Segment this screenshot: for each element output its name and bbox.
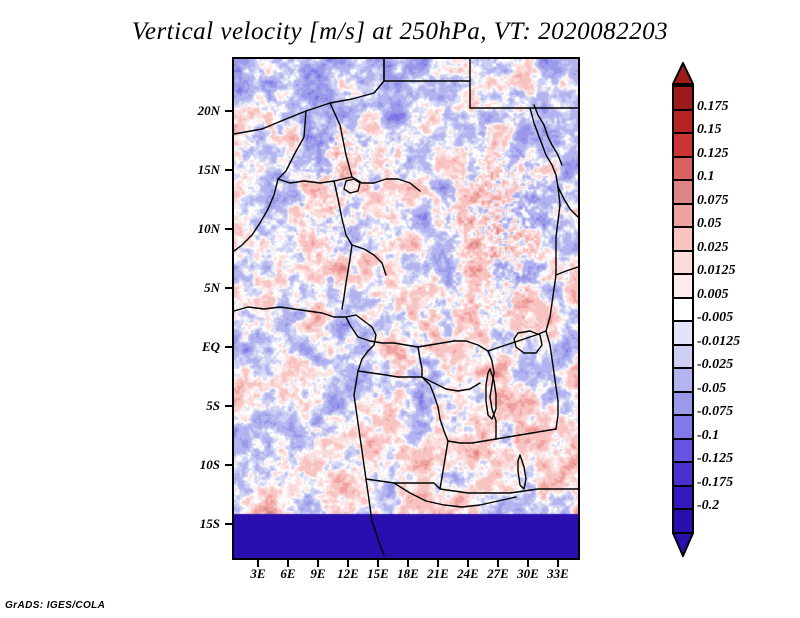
colorbar-cell	[672, 156, 694, 182]
y-axis-label-15n: 15N	[160, 162, 220, 178]
colorbar-cell	[672, 297, 694, 323]
grads-attribution: GrADS: IGES/COLA	[5, 600, 105, 611]
y-tick	[225, 169, 232, 171]
colorbar-label: 0.0125	[697, 263, 736, 279]
colorbar-arrow-top	[672, 62, 694, 85]
colorbar: 0.1750.150.1250.10.0750.050.0250.01250.0…	[672, 62, 694, 562]
colorbar-label: 0.175	[697, 99, 729, 115]
y-axis-label-10n: 10N	[160, 221, 220, 237]
colorbar-label: -0.1	[697, 428, 719, 444]
country-borders-overlay	[234, 59, 578, 558]
y-tick	[225, 464, 232, 466]
colorbar-label: 0.1	[697, 169, 715, 185]
colorbar-label: 0.025	[697, 240, 729, 256]
colorbar-cell	[672, 391, 694, 417]
y-axis-label-5s: 5S	[160, 398, 220, 414]
colorbar-cell	[672, 414, 694, 440]
y-tick	[225, 228, 232, 230]
colorbar-cell	[672, 179, 694, 205]
y-tick	[225, 523, 232, 525]
colorbar-cell	[672, 485, 694, 511]
colorbar-label: -0.0125	[697, 334, 740, 350]
colorbar-cell	[672, 109, 694, 135]
colorbar-cell	[672, 203, 694, 229]
colorbar-cell	[672, 273, 694, 299]
colorbar-label: -0.075	[697, 404, 733, 420]
colorbar-cell	[672, 250, 694, 276]
colorbar-cell	[672, 367, 694, 393]
colorbar-label: -0.05	[697, 381, 726, 397]
colorbar-cell	[672, 132, 694, 158]
colorbar-label: -0.125	[697, 451, 733, 467]
y-tick	[225, 346, 232, 348]
colorbar-label: 0.075	[697, 193, 729, 209]
colorbar-label: -0.2	[697, 498, 719, 514]
map-plot-area	[232, 57, 580, 560]
colorbar-arrow-bottom	[672, 532, 694, 557]
colorbar-cell	[672, 85, 694, 111]
colorbar-label: -0.175	[697, 475, 733, 491]
colorbar-cell	[672, 226, 694, 252]
colorbar-cell	[672, 344, 694, 370]
colorbar-label: 0.15	[697, 122, 722, 138]
colorbar-cell	[672, 438, 694, 464]
y-tick	[225, 405, 232, 407]
y-axis-label-15s: 15S	[160, 516, 220, 532]
colorbar-label: -0.025	[697, 357, 733, 373]
colorbar-label: 0.125	[697, 146, 729, 162]
y-tick	[225, 287, 232, 289]
y-tick	[225, 110, 232, 112]
x-axis-label-33e: 33E	[538, 566, 578, 582]
y-axis-label-10s: 10S	[160, 457, 220, 473]
colorbar-label: -0.005	[697, 310, 733, 326]
y-axis-label-5n: 5N	[160, 280, 220, 296]
page-title: Vertical velocity [m/s] at 250hPa, VT: 2…	[0, 18, 800, 46]
y-axis-label-20n: 20N	[160, 103, 220, 119]
y-axis-label-eq: EQ	[160, 339, 220, 355]
colorbar-label: 0.05	[697, 216, 722, 232]
colorbar-cell	[672, 461, 694, 487]
colorbar-cell	[672, 320, 694, 346]
colorbar-label: 0.005	[697, 287, 729, 303]
colorbar-cell	[672, 508, 694, 534]
